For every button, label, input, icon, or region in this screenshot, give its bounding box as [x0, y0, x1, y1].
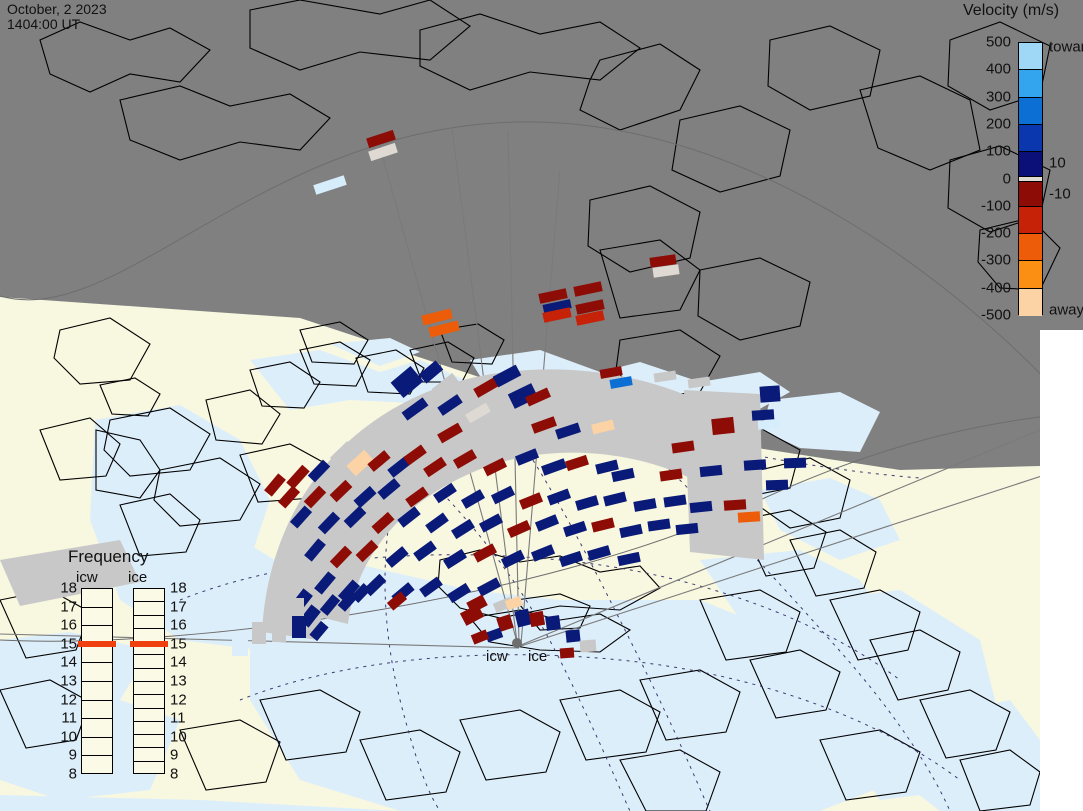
colorbar-segment-3: [1019, 125, 1042, 152]
frequency-tick-11: 11: [55, 710, 77, 727]
colorbar-tick--400: -400: [981, 279, 1011, 296]
colorbar-tick-100: 100: [986, 143, 1011, 160]
frequency-tick-10: 10: [55, 728, 77, 745]
frequency-segment: [134, 616, 164, 629]
frequency-bar-ice: [133, 588, 165, 774]
colorbar-tick-400: 400: [986, 61, 1011, 78]
colorbar-segment-7: [1019, 207, 1042, 234]
colorbar-segment-0: [1019, 43, 1042, 70]
frequency-tick-17: 17: [55, 598, 77, 615]
frequency-segment: [134, 695, 164, 708]
frequency-tick-15: 15: [55, 635, 77, 652]
colorbar-zero-upper-label: 10: [1049, 155, 1066, 172]
frequency-tick-17: 17: [170, 598, 187, 615]
superdarn-velocity-map: October, 2 2023 1404:00 UT Velocity (m/s…: [0, 0, 1083, 811]
colorbar-tick-500: 500: [986, 34, 1011, 51]
colorbar-tick--100: -100: [981, 197, 1011, 214]
colorbar-segment-8: [1019, 234, 1042, 261]
site-label-icw: icw: [486, 648, 508, 665]
frequency-legend-panel: Frequency icw ice 18171615141312111098 1…: [55, 545, 190, 790]
colorbar-segment-2: [1019, 98, 1042, 125]
frequency-tick-12: 12: [170, 691, 187, 708]
frequency-segment: [82, 608, 112, 627]
frequency-tick-18: 18: [55, 580, 77, 597]
frequency-segment: [134, 682, 164, 695]
frequency-segment: [82, 738, 112, 757]
frequency-segment: [82, 645, 112, 664]
frequency-segment: [134, 762, 164, 775]
frequency-tick-8: 8: [55, 766, 77, 783]
frequency-segment: [134, 748, 164, 761]
frequency-segment: [134, 709, 164, 722]
frequency-segment: [82, 701, 112, 720]
frequency-column-label-icw: icw: [76, 569, 98, 586]
frequency-tick-16: 16: [55, 617, 77, 634]
frequency-tick-14: 14: [170, 654, 187, 671]
frequency-segment: [134, 655, 164, 668]
frequency-tick-9: 9: [55, 747, 77, 764]
colorbar-title: Velocity (m/s): [963, 2, 1059, 20]
colorbar-tick--500: -500: [981, 307, 1011, 324]
radar-site-marker: [512, 638, 522, 648]
frequency-tick-13: 13: [170, 673, 187, 690]
frequency-bar-icw: [81, 588, 113, 774]
colorbar-tick-0: 0: [1003, 170, 1011, 187]
colorbar-gradient: [1018, 42, 1043, 315]
frequency-marker-ice: [130, 641, 168, 647]
frequency-tick-16: 16: [170, 617, 187, 634]
frequency-segment: [82, 756, 112, 775]
timestamp-label: October, 2 2023 1404:00 UT: [7, 2, 107, 32]
frequency-marker-icw: [78, 641, 116, 647]
frequency-segment: [82, 719, 112, 738]
colorbar-zero-lower-label: -10: [1049, 185, 1071, 202]
frequency-segment: [134, 722, 164, 735]
colorbar-segment-6: [1019, 182, 1042, 207]
frequency-segment: [82, 682, 112, 701]
colorbar-segment-9: [1019, 261, 1042, 288]
colorbar-tick--300: -300: [981, 252, 1011, 269]
frequency-segment: [134, 735, 164, 748]
frequency-tick-8: 8: [170, 766, 178, 783]
frequency-column-label-ice: ice: [128, 569, 147, 586]
frequency-tick-18: 18: [170, 580, 187, 597]
velocity-colorbar-panel: Velocity (m/s) 5004003002001000-100-200-…: [950, 0, 1083, 330]
frequency-tick-15: 15: [170, 635, 187, 652]
colorbar-away-label: away: [1049, 301, 1083, 318]
colorbar-tick-200: 200: [986, 115, 1011, 132]
frequency-legend-title: Frequency: [68, 547, 148, 567]
colorbar-segment-1: [1019, 70, 1042, 97]
frequency-tick-13: 13: [55, 673, 77, 690]
colorbar-segment-10: [1019, 289, 1042, 316]
frequency-tick-12: 12: [55, 691, 77, 708]
frequency-tick-11: 11: [170, 710, 186, 727]
frequency-tick-10: 10: [170, 728, 187, 745]
colorbar-toward-label: toward: [1049, 39, 1083, 56]
frequency-segment: [134, 589, 164, 602]
frequency-segment: [134, 669, 164, 682]
colorbar-tick-300: 300: [986, 88, 1011, 105]
colorbar-segment-4: [1019, 152, 1042, 177]
site-label-ice: ice: [528, 648, 547, 665]
frequency-segment: [134, 602, 164, 615]
frequency-segment: [82, 663, 112, 682]
frequency-tick-14: 14: [55, 654, 77, 671]
map-right-margin: [1040, 330, 1083, 811]
colorbar-tick--200: -200: [981, 225, 1011, 242]
frequency-segment: [82, 589, 112, 608]
frequency-tick-9: 9: [170, 747, 178, 764]
